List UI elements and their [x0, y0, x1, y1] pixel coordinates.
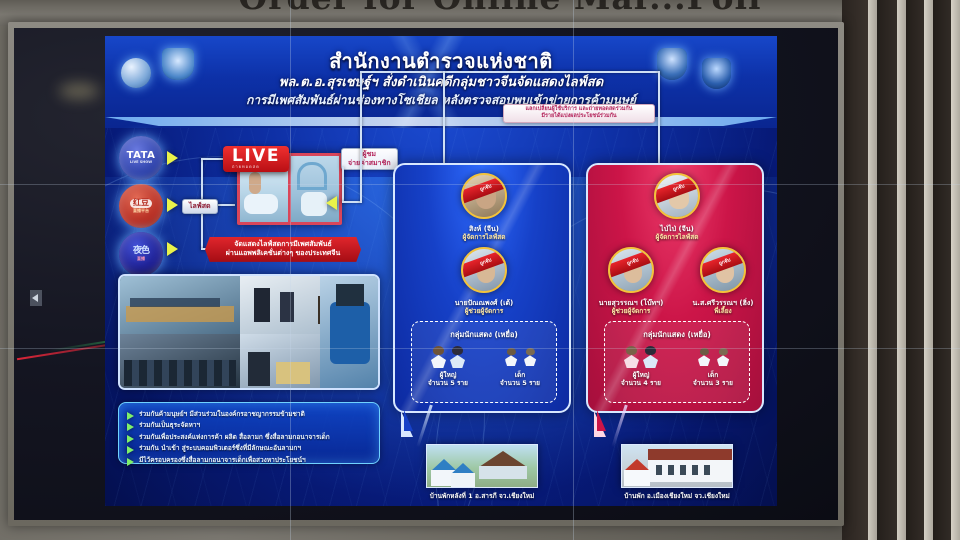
charge-text: ร่วมกันเป็นธุระจัดหาฯ — [139, 421, 200, 429]
list-item: ร่วมกันเป็นธุระจัดหาฯ — [127, 421, 371, 431]
viewer-payment-label: ผู้ชม จ่ายค่าสมาชิก — [341, 148, 398, 170]
live-badge-sublabel: ถ่ายทอดสด — [232, 165, 280, 169]
bullet-arrow-icon — [127, 458, 134, 466]
platform-logo-red: 红豆 直播平台 — [119, 184, 163, 228]
person-card: ถูกจับ — [654, 173, 700, 219]
arrow-left-icon — [167, 151, 178, 165]
list-item: ร่วมกัน นำเข้า สู่ระบบคอมพิวเตอร์ซึ่งที่… — [127, 444, 371, 454]
board-subtitle-2: การมีเพศสัมพันธ์ผ่านช่องทางโซเชียล หลังต… — [105, 91, 777, 110]
infographic-board: สำนักงานตำรวจแห่งชาติ พล.ต.อ.สุรเชษฐ์ฯ ส… — [105, 36, 777, 506]
person-role: ผู้จัดการไลฟ์สด — [588, 233, 766, 241]
platform-name: 红豆 — [130, 199, 152, 207]
avatar: ถูกจับ — [654, 173, 700, 219]
videowall-seam-vertical — [573, 0, 574, 540]
person-card: ถูกจับ — [461, 247, 507, 293]
person-role: ผู้จัดการไลฟ์สด — [395, 233, 573, 241]
victim-group-title: กลุ่มนักแสดง (เหยื่อ) — [412, 329, 556, 341]
victim-group-box: กลุ่มนักแสดง (เหยื่อ) ผู้ใหญ่ จำนวน 4 รา… — [604, 321, 750, 403]
livestream-arrow-label: ไลฟ์สด — [182, 199, 218, 214]
videowall-seam-vertical — [290, 0, 291, 540]
bullet-arrow-icon — [127, 446, 134, 454]
connector-wire — [658, 71, 660, 163]
victim-group-adults: ผู้ใหญ่ จำนวน 4 ราย — [605, 346, 677, 388]
avatar: ถูกจับ — [700, 247, 746, 293]
victim-group-children: เด็ก จำนวน 3 ราย — [677, 346, 749, 388]
photo-cell — [120, 334, 240, 390]
victim-group-children: เด็ก จำนวน 5 ราย — [484, 346, 556, 388]
header-underline-band — [105, 117, 777, 126]
avatar: ถูกจับ — [608, 247, 654, 293]
person-figure-icon — [624, 346, 640, 368]
list-item: ร่วมกันค้ามนุษย์ฯ มีส่วนร่วมในองค์กรอาชญ… — [127, 410, 371, 420]
charge-text: ร่วมกัน นำเข้า สู่ระบบคอมพิวเตอร์ซึ่งที่… — [139, 444, 301, 452]
connector-wire — [342, 167, 344, 203]
victim-group-box: กลุ่มนักแสดง (เหยื่อ) ผู้ใหญ่ จำนวน 5 รา… — [411, 321, 557, 403]
house-photo-1 — [426, 444, 538, 488]
wall-slats — [842, 0, 960, 540]
victim-count-label: ผู้ใหญ่ จำนวน 5 ราย — [412, 371, 484, 388]
photo-cell — [120, 276, 240, 334]
wall-headline-text: Order for Online Mar...Poli — [150, 0, 850, 12]
arrow-left-icon — [167, 198, 178, 212]
board-subtitle-1: พล.ต.อ.สุรเชษฐ์ฯ สั่งดำเนินคดีกลุ่มชาวจี… — [105, 71, 777, 92]
victim-group-adults: ผู้ใหญ่ จำนวน 5 ราย — [412, 346, 484, 388]
person-role: ผู้ช่วยผู้จัดการ — [395, 307, 573, 315]
platform-sub: LIVE SHOW — [127, 161, 156, 165]
videowall-seam-horizontal — [0, 184, 960, 185]
arrow-left-icon — [167, 242, 178, 256]
victim-count-label: เด็ก จำนวน 3 ราย — [677, 371, 749, 388]
house-caption-1: บ้านพักหลังที่ 1 อ.สารภี จว.เชียงใหม่ — [426, 491, 538, 501]
photo-cell — [240, 334, 320, 390]
person-figure-icon — [504, 348, 517, 366]
person-role: พี่เลี้ยง — [668, 307, 777, 315]
live-badge-label: LIVE — [232, 146, 280, 166]
victim-figures: ผู้ใหญ่ จำนวน 5 ราย เด็ก จำนวน 5 ราย — [412, 346, 556, 388]
victim-group-title: กลุ่มนักแสดง (เหยื่อ) — [605, 329, 749, 341]
victim-count-label: เด็ก จำนวน 5 ราย — [484, 371, 556, 388]
list-item: ร่วมกันเพื่อประสงค์แห่งการค้า ผลิต สื่อล… — [127, 433, 371, 443]
bullet-arrow-icon — [127, 412, 134, 420]
connector-wire — [360, 71, 660, 73]
charge-text: ร่วมกันค้ามนุษย์ฯ มีส่วนร่วมในองค์กรอาชญ… — [139, 410, 305, 418]
house-block-2: บ้านพัก อ.เมืองเชียงใหม่ จว.เชียงใหม่ — [621, 444, 733, 501]
house-photo-2 — [621, 444, 733, 488]
connector-wire — [443, 71, 445, 163]
person-figure-icon — [697, 348, 710, 366]
raid-and-press-conference-photos — [118, 274, 380, 390]
live-caption-banner: จัดแสดงไลฟ์สดการมีเพศสัมพันธ์ ผ่านแอพพลิ… — [205, 237, 361, 262]
avatar: ถูกจับ — [461, 173, 507, 219]
panel-connector-label: แลกเปลี่ยนผู้ใช้บริการ และถ่ายทอดสดร่วมก… — [503, 104, 655, 123]
case-panel-red: ถูกจับ ไป่ไป่ (จีน) ผู้จัดการไลฟ์สด ถูกจ… — [586, 163, 764, 413]
bullet-arrow-icon — [127, 423, 134, 431]
charge-text: มีไว้ครอบครองซึ่งสื่อลามกอนาจารเด็กเพื่อ… — [139, 456, 306, 464]
panel-tail-red-fill — [597, 410, 619, 431]
person-card: ถูกจับ — [608, 247, 654, 293]
victim-count-label: ผู้ใหญ่ จำนวน 4 ราย — [605, 371, 677, 388]
person-figure-icon — [716, 348, 729, 366]
platform-sub: 直播平台 — [130, 209, 152, 213]
person-figure-icon — [431, 346, 447, 368]
person-card: ถูกจับ — [700, 247, 746, 293]
victim-figures: ผู้ใหญ่ จำนวน 4 ราย เด็ก จำนวน 3 ราย — [605, 346, 749, 388]
play-triangle-icon[interactable] — [30, 290, 42, 306]
person-card: ถูกจับ — [461, 173, 507, 219]
charges-list: ร่วมกันค้ามนุษย์ฯ มีส่วนร่วมในองค์กรอาชญ… — [118, 402, 380, 464]
photo-cell — [320, 276, 380, 390]
list-item: มีไว้ครอบครองซึ่งสื่อลามกอนาจารเด็กเพื่อ… — [127, 456, 371, 466]
screenshot-stage: Order for Online Mar...Poli — [0, 0, 960, 540]
charge-text: ร่วมกันเพื่อประสงค์แห่งการค้า ผลิต สื่อล… — [139, 433, 330, 441]
connector-wire — [342, 201, 362, 203]
arrow-right-icon — [326, 196, 337, 210]
case-panel-blue: ถูกจับ สิงห์ (จีน) ผู้จัดการไลฟ์สด ถูกจั… — [393, 163, 571, 413]
person-figure-icon — [450, 346, 466, 368]
platform-logo-tata: TATA LIVE SHOW — [119, 136, 163, 180]
live-caption-line: จัดแสดงไลฟ์สดการมีเพศสัมพันธ์ ผ่านแอพพลิ… — [215, 240, 351, 259]
avatar: ถูกจับ — [461, 247, 507, 293]
reflection-glare — [59, 83, 99, 99]
live-badge: LIVE ถ่ายทอดสด — [223, 146, 289, 172]
board-header: สำนักงานตำรวจแห่งชาติ พล.ต.อ.สุรเชษฐ์ฯ ส… — [105, 36, 777, 128]
platform-logo-night: 夜色 直播 — [119, 232, 163, 276]
house-caption-2: บ้านพัก อ.เมืองเชียงใหม่ จว.เชียงใหม่ — [621, 491, 733, 501]
live-video-right — [291, 156, 339, 222]
videowall-seam-horizontal — [0, 348, 960, 349]
house-block-1: บ้านพักหลังที่ 1 อ.สารภี จว.เชียงใหม่ — [426, 444, 538, 501]
platform-sub: 直播 — [133, 257, 149, 261]
bullet-arrow-icon — [127, 435, 134, 443]
person-figure-icon — [643, 346, 659, 368]
person-figure-icon — [523, 348, 536, 366]
